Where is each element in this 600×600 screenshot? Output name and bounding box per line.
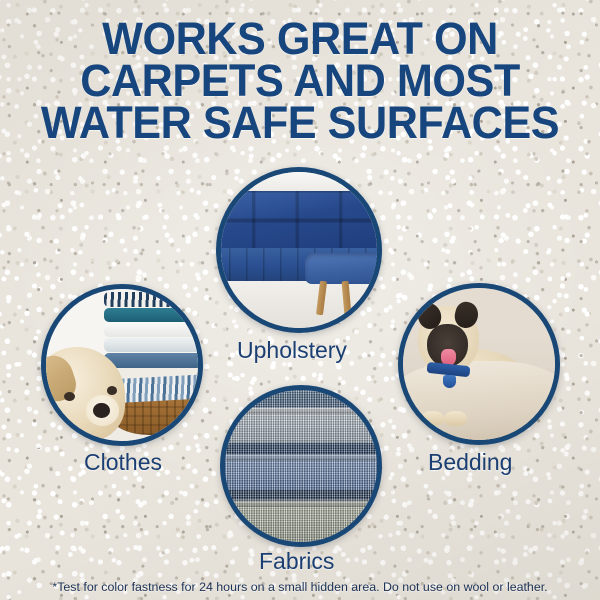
feature-label-bedding: Bedding (428, 449, 512, 476)
sofa-tufted-backrest (216, 191, 382, 250)
fabric-fold-edge (220, 499, 382, 507)
feature-label-clothes: Clothes (84, 449, 162, 476)
fabric-fold-edge (220, 454, 382, 462)
fabric-swatch-band (220, 501, 382, 547)
golden-retriever-nose (93, 403, 110, 418)
sofa-ottoman (305, 253, 382, 284)
pet-bed-cushion-front (398, 361, 560, 445)
fabric-weave-texture (220, 501, 382, 547)
pug-paw (444, 411, 467, 426)
pug-paw (421, 411, 444, 426)
folded-linen-stack (104, 292, 203, 368)
linen-layer (104, 338, 203, 352)
feature-label-fabrics: Fabrics (259, 548, 334, 575)
pet-bed-photo (403, 288, 555, 440)
feature-label-upholstery: Upholstery (237, 337, 347, 364)
linen-layer (104, 353, 203, 368)
sofa-floor (221, 281, 377, 328)
feature-circle-upholstery[interactable] (216, 167, 382, 333)
disclaimer-text: *Test for color fastness for 24 hours on… (0, 580, 600, 594)
headline-line-3: WATER SAFE SURFACES (12, 102, 588, 144)
headline-line-2: CARPETS AND MOST (12, 60, 588, 102)
fabric-swatch-photo (225, 390, 377, 542)
headline: WORKS GREAT ON CARPETS AND MOST WATER SA… (12, 18, 588, 144)
product-feature-graphic: WORKS GREAT ON CARPETS AND MOST WATER SA… (0, 0, 600, 600)
linen-layer (104, 322, 203, 336)
linen-layer (104, 308, 203, 322)
feature-circle-fabrics[interactable] (220, 385, 382, 547)
laundry-photo (46, 289, 198, 441)
sofa-photo (221, 172, 377, 328)
headline-line-1: WORKS GREAT ON (12, 18, 588, 60)
feature-circle-bedding[interactable] (398, 283, 560, 445)
fabric-fold-edge (220, 407, 382, 415)
linen-layer (104, 292, 203, 307)
feature-circle-clothes[interactable] (41, 284, 203, 446)
